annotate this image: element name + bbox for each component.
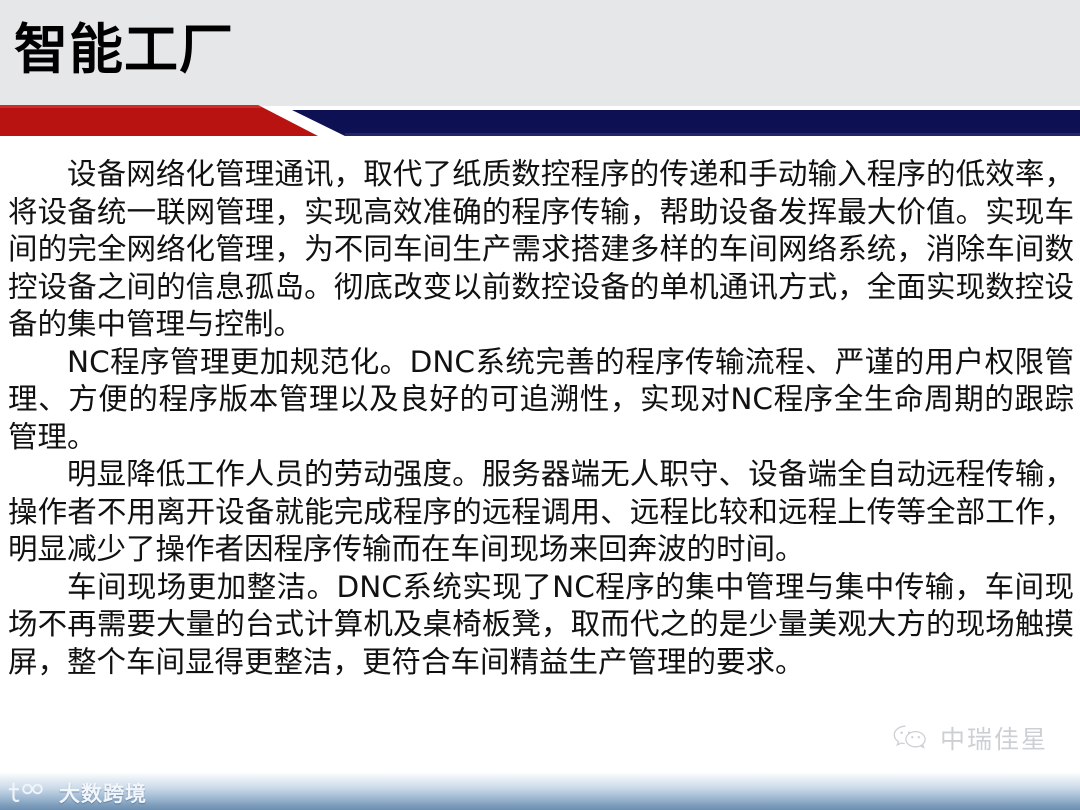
slide-header: 智能工厂 [0, 0, 1080, 106]
slide-root: 智能工厂 设备网络化管理通讯，取代了纸质数控程序的传递和手动输入程序的低效率，将… [0, 0, 1080, 810]
banner-red-shape [0, 105, 318, 136]
paragraph: 车间现场更加整洁。DNC系统实现了NC程序的集中管理与集中传输，车间现场不再需要… [8, 569, 1074, 682]
wechat-watermark: 中瑞佳星 [891, 720, 1048, 756]
banner-red-highlight [0, 105, 262, 108]
footer-brand: 大数跨境 [6, 778, 147, 808]
decorative-banner [0, 100, 1080, 142]
footer-band: 大数跨境 [0, 772, 1080, 810]
wechat-icon [891, 723, 931, 753]
page-title: 智能工厂 [14, 16, 234, 84]
wechat-account-name: 中瑞佳星 [940, 720, 1048, 756]
paragraph: NC程序管理更加规范化。DNC系统完善的程序传输流程、严谨的用户权限管理、方便的… [8, 344, 1074, 457]
paragraph: 设备网络化管理通讯，取代了纸质数控程序的传递和手动输入程序的低效率，将设备统一联… [8, 156, 1074, 344]
paragraph: 明显降低工作人员的劳动强度。服务器端无人职守、设备端全自动远程传输，操作者不用离… [8, 456, 1074, 569]
banner-navy-shade [345, 133, 1080, 136]
banner-navy-shape [292, 110, 1080, 136]
body-text-block: 设备网络化管理通讯，取代了纸质数控程序的传递和手动输入程序的低效率，将设备统一联… [8, 156, 1074, 681]
footer-brand-name: 大数跨境 [59, 778, 147, 808]
dashu-kuajing-logo-icon [6, 780, 52, 806]
